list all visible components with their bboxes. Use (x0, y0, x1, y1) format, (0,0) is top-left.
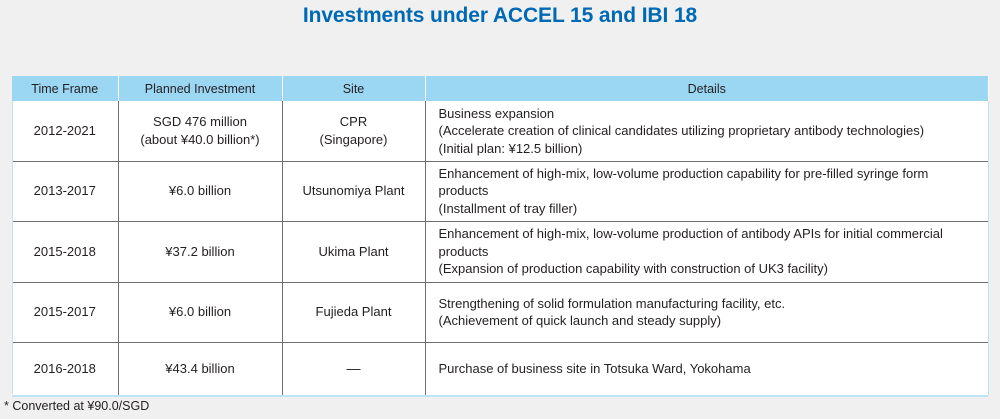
column-header-details: Details (425, 76, 988, 101)
cell-time-frame: 2016-2018 (12, 342, 118, 395)
cell-time-frame: 2015-2017 (12, 282, 118, 342)
cell-details: Enhancement of high-mix, low-volume prod… (425, 221, 988, 282)
investments-table: Time Frame Planned Investment Site Detai… (12, 76, 989, 395)
planned-investment-line-1: ¥43.4 billion (127, 360, 274, 378)
cell-time-frame: 2013-2017 (12, 161, 118, 221)
cell-details: Business expansion (Accelerate creation … (425, 101, 988, 161)
site-line-1: — (291, 360, 417, 378)
planned-investment-line-1: ¥6.0 billion (127, 303, 274, 321)
details-line-1: Business expansion (439, 105, 978, 123)
table-row: 2012-2021 SGD 476 million (about ¥40.0 b… (12, 101, 988, 161)
table-row: 2016-2018 ¥43.4 billion — Purchase of bu… (12, 342, 988, 395)
planned-investment-line-2: (about ¥40.0 billion*) (127, 131, 274, 149)
details-line-1: Enhancement of high-mix, low-volume prod… (439, 225, 978, 260)
investments-table-wrapper: Time Frame Planned Investment Site Detai… (12, 76, 988, 397)
cell-planned-investment: ¥6.0 billion (118, 282, 282, 342)
table-row: 2013-2017 ¥6.0 billion Utsunomiya Plant … (12, 161, 988, 221)
column-header-time-frame: Time Frame (12, 76, 118, 101)
cell-planned-investment: SGD 476 million (about ¥40.0 billion*) (118, 101, 282, 161)
cell-planned-investment: ¥43.4 billion (118, 342, 282, 395)
table-row: 2015-2017 ¥6.0 billion Fujieda Plant Str… (12, 282, 988, 342)
footnote: * Converted at ¥90.0/SGD (4, 398, 149, 414)
table-left-border (12, 101, 13, 394)
site-line-1: Fujieda Plant (291, 303, 417, 321)
cell-site: Fujieda Plant (282, 282, 425, 342)
cell-details: Purchase of business site in Totsuka War… (425, 342, 988, 395)
table-header-row: Time Frame Planned Investment Site Detai… (12, 76, 988, 101)
site-line-2: (Singapore) (291, 131, 417, 149)
details-line-1: Strengthening of solid formulation manuf… (439, 295, 978, 313)
details-line-2: (Accelerate creation of clinical candida… (439, 122, 978, 140)
details-line-2: (Installment of tray filler) (439, 200, 978, 218)
details-line-2: (Achievement of quick launch and steady … (439, 312, 978, 330)
cell-details: Strengthening of solid formulation manuf… (425, 282, 988, 342)
cell-time-frame: 2015-2018 (12, 221, 118, 282)
site-line-1: CPR (291, 113, 417, 131)
column-header-planned-investment: Planned Investment (118, 76, 282, 101)
details-line-1: Enhancement of high-mix, low-volume prod… (439, 165, 978, 200)
cell-planned-investment: ¥6.0 billion (118, 161, 282, 221)
site-line-1: Utsunomiya Plant (291, 182, 417, 200)
cell-details: Enhancement of high-mix, low-volume prod… (425, 161, 988, 221)
cell-site: Ukima Plant (282, 221, 425, 282)
table-row: 2015-2018 ¥37.2 billion Ukima Plant Enha… (12, 221, 988, 282)
cell-site: Utsunomiya Plant (282, 161, 425, 221)
site-line-1: Ukima Plant (291, 243, 417, 261)
details-line-1: Purchase of business site in Totsuka War… (439, 360, 978, 378)
details-line-3: (Initial plan: ¥12.5 billion) (439, 140, 978, 158)
cell-site: CPR (Singapore) (282, 101, 425, 161)
column-header-site: Site (282, 76, 425, 101)
cell-site: — (282, 342, 425, 395)
table-bottom-border (12, 395, 988, 397)
cell-planned-investment: ¥37.2 billion (118, 221, 282, 282)
table-body: 2012-2021 SGD 476 million (about ¥40.0 b… (12, 101, 988, 395)
investments-page: Investments under ACCEL 15 and IBI 18 Ti… (0, 0, 1000, 419)
planned-investment-line-1: ¥37.2 billion (127, 243, 274, 261)
planned-investment-line-1: ¥6.0 billion (127, 182, 274, 200)
cell-time-frame: 2012-2021 (12, 101, 118, 161)
planned-investment-line-1: SGD 476 million (127, 113, 274, 131)
page-title: Investments under ACCEL 15 and IBI 18 (0, 0, 1000, 32)
details-line-2: (Expansion of production capability with… (439, 260, 978, 278)
table-header: Time Frame Planned Investment Site Detai… (12, 76, 988, 101)
